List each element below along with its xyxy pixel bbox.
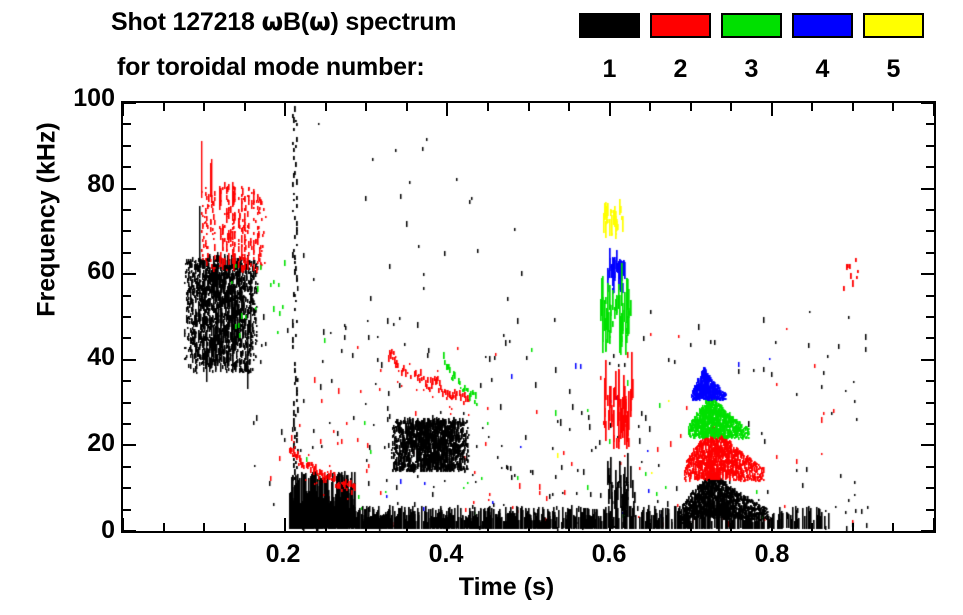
x-tick-major-0.00 xyxy=(122,518,124,531)
y-tick-right-minor-55 xyxy=(926,295,934,297)
y-tick-minor-45 xyxy=(123,337,131,339)
omega-symbol-1: ω xyxy=(261,7,283,36)
y-tick-major-0 xyxy=(123,530,136,532)
y-tick-right-major-20 xyxy=(921,444,934,446)
x-tick-top-major-0.60 xyxy=(609,103,611,116)
title-text-part-3: ) spectrum xyxy=(331,8,457,36)
x-tick-top-minor-0.25 xyxy=(325,103,327,111)
x-tick-top-major-0.40 xyxy=(446,103,448,116)
x-axis-label-text: Time (s) xyxy=(409,573,554,601)
x-tick-minor-0.15 xyxy=(244,523,246,531)
y-tick-right-minor-25 xyxy=(926,423,934,425)
x-tick-minor-0.45 xyxy=(487,523,489,531)
legend-label-n2: 2 xyxy=(650,55,711,84)
y-tick-label-40: 40 xyxy=(0,345,115,370)
x-tick-top-minor-0.85 xyxy=(811,103,813,111)
x-tick-top-minor-0.15 xyxy=(244,103,246,111)
y-tick-minor-25 xyxy=(123,423,131,425)
y-tick-minor-10 xyxy=(123,487,131,489)
y-tick-major-80 xyxy=(123,188,136,190)
legend-label-n5: 5 xyxy=(863,55,924,84)
x-tick-top-minor-0.95 xyxy=(892,103,894,111)
y-tick-major-60 xyxy=(123,273,136,275)
y-tick-right-minor-95 xyxy=(926,123,934,125)
figure-title-line-1: Shot 127218 ωB(ω) spectrum xyxy=(111,7,456,37)
y-tick-label-80: 80 xyxy=(0,172,115,197)
legend-label-n3: 3 xyxy=(721,55,782,84)
plot-area xyxy=(121,101,936,533)
y-tick-minor-65 xyxy=(123,252,131,254)
x-tick-label-0.6: 0.6 xyxy=(569,540,649,569)
y-tick-minor-30 xyxy=(123,402,131,404)
x-tick-top-minor-0.45 xyxy=(487,103,489,111)
y-tick-right-minor-10 xyxy=(926,487,934,489)
x-tick-minor-0.35 xyxy=(406,523,408,531)
legend-label-n1: 1 xyxy=(579,55,640,84)
y-tick-minor-95 xyxy=(123,123,131,125)
y-tick-right-minor-15 xyxy=(926,466,934,468)
y-tick-minor-15 xyxy=(123,466,131,468)
x-tick-top-major-0.80 xyxy=(771,103,773,116)
y-tick-label-100: 100 xyxy=(0,86,115,111)
x-tick-minor-0.90 xyxy=(852,523,854,531)
y-tick-right-major-40 xyxy=(921,359,934,361)
y-tick-label-20: 20 xyxy=(0,431,115,456)
y-tick-major-40 xyxy=(123,359,136,361)
x-tick-minor-0.70 xyxy=(690,523,692,531)
figure-title-line-2: for toroidal mode number: xyxy=(117,53,425,82)
legend-label-n4: 4 xyxy=(792,55,853,84)
legend-swatch-n2 xyxy=(650,13,711,38)
y-tick-right-major-80 xyxy=(921,188,934,190)
legend-swatch-n5 xyxy=(863,13,924,38)
y-tick-right-minor-90 xyxy=(926,145,934,147)
x-tick-minor-0.30 xyxy=(365,523,367,531)
x-tick-top-minor-0.65 xyxy=(649,103,651,111)
y-tick-minor-85 xyxy=(123,166,131,168)
x-tick-minor-0.65 xyxy=(649,523,651,531)
y-tick-right-minor-35 xyxy=(926,380,934,382)
x-tick-minor-0.50 xyxy=(528,523,530,531)
title-text-part-2: B( xyxy=(283,8,309,36)
spectrogram-figure: Shot 127218 ωB(ω) spectrum for toroidal … xyxy=(0,0,963,615)
x-tick-top-minor-0.35 xyxy=(406,103,408,111)
x-tick-minor-0.55 xyxy=(568,523,570,531)
x-tick-top-minor-0.10 xyxy=(203,103,205,111)
y-tick-right-minor-45 xyxy=(926,337,934,339)
y-tick-label-0: 0 xyxy=(0,518,115,543)
x-tick-top-minor-0.70 xyxy=(690,103,692,111)
legend-swatch-n4 xyxy=(792,13,853,38)
x-tick-top-major-1.00 xyxy=(933,103,935,116)
x-tick-label-0.8: 0.8 xyxy=(732,540,812,569)
x-tick-top-minor-0.55 xyxy=(568,103,570,111)
x-tick-top-minor-0.50 xyxy=(528,103,530,111)
y-tick-minor-90 xyxy=(123,145,131,147)
x-tick-major-0.20 xyxy=(284,518,286,531)
y-tick-minor-50 xyxy=(123,316,131,318)
y-tick-right-major-60 xyxy=(921,273,934,275)
x-tick-label-0.2: 0.2 xyxy=(243,540,323,569)
legend-swatch-n1 xyxy=(579,13,640,38)
x-tick-major-0.80 xyxy=(771,518,773,531)
x-tick-minor-0.05 xyxy=(163,523,165,531)
y-tick-minor-75 xyxy=(123,209,131,211)
y-tick-right-minor-50 xyxy=(926,316,934,318)
x-tick-minor-0.95 xyxy=(892,523,894,531)
title-text-part-1: Shot 127218 xyxy=(111,8,261,36)
y-tick-minor-5 xyxy=(123,509,131,511)
omega-symbol-2: ω xyxy=(309,7,331,36)
x-tick-top-minor-0.30 xyxy=(365,103,367,111)
x-tick-top-minor-0.90 xyxy=(852,103,854,111)
x-tick-top-major-0.00 xyxy=(122,103,124,116)
y-tick-right-minor-30 xyxy=(926,402,934,404)
x-tick-major-0.40 xyxy=(446,518,448,531)
y-tick-right-minor-5 xyxy=(926,509,934,511)
x-tick-minor-0.25 xyxy=(325,523,327,531)
legend-swatch-n3 xyxy=(721,13,782,38)
y-tick-major-20 xyxy=(123,444,136,446)
x-tick-label-0.4: 0.4 xyxy=(406,540,486,569)
y-tick-minor-70 xyxy=(123,230,131,232)
x-axis-label: Time (s) xyxy=(0,573,963,602)
y-tick-right-minor-70 xyxy=(926,230,934,232)
y-tick-right-minor-85 xyxy=(926,166,934,168)
y-tick-minor-55 xyxy=(123,295,131,297)
x-tick-minor-0.10 xyxy=(203,523,205,531)
x-tick-top-minor-0.75 xyxy=(730,103,732,111)
y-tick-minor-35 xyxy=(123,380,131,382)
x-tick-minor-0.85 xyxy=(811,523,813,531)
x-tick-major-1.00 xyxy=(933,518,935,531)
x-tick-top-minor-0.05 xyxy=(163,103,165,111)
y-tick-right-minor-75 xyxy=(926,209,934,211)
y-tick-label-60: 60 xyxy=(0,259,115,284)
y-axis-label: Frequency (kHz) xyxy=(33,110,62,330)
spectrogram-canvas xyxy=(123,103,934,531)
y-tick-major-100 xyxy=(123,102,136,104)
y-tick-right-minor-65 xyxy=(926,252,934,254)
x-tick-minor-0.75 xyxy=(730,523,732,531)
x-tick-major-0.60 xyxy=(609,518,611,531)
x-tick-top-major-0.20 xyxy=(284,103,286,116)
